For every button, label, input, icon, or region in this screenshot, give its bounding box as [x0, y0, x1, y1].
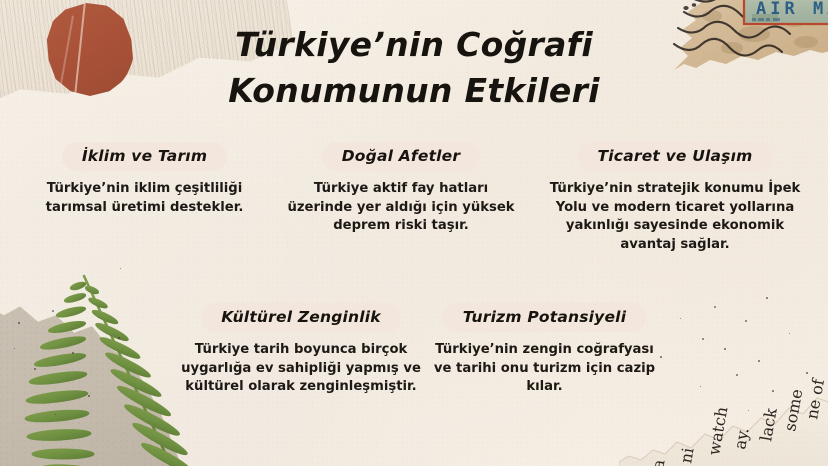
card-body-text: Türkiye’nin iklim çeşitliliği tarımsal ü…: [32, 180, 257, 217]
page-title-line-1: Türkiye’nin Coğrafi: [235, 25, 593, 64]
card-heading-pill: Doğal Afetler: [322, 142, 481, 171]
card-body-text: Türkiye tarih boyunca birçok uygarlığa e…: [176, 341, 426, 397]
card-heading-pill: İklim ve Tarım: [62, 142, 227, 171]
card-dogal-afetler: Doğal Afetler Türkiye aktif fay hatları …: [286, 142, 516, 236]
card-turizm-potansiyeli: Turizm Potansiyeli Türkiye’nin zengin co…: [432, 303, 657, 397]
slide-content: Türkiye’nin Coğrafi Konumunun Etkileri İ…: [0, 0, 828, 466]
card-heading-pill: Turizm Potansiyeli: [443, 303, 646, 332]
slide-canvas: AIR MA ne of y some: [0, 0, 828, 466]
card-body-text: Türkiye’nin zengin coğrafyası ve tarihi …: [432, 341, 657, 397]
card-iklim-ve-tarim: İklim ve Tarım Türkiye’nin iklim çeşitli…: [32, 142, 257, 217]
card-kulturel-zenginlik: Kültürel Zenginlik Türkiye tarih boyunca…: [176, 303, 426, 397]
page-title: Türkiye’nin Coğrafi Konumunun Etkileri: [0, 22, 828, 113]
card-ticaret-ve-ulasim: Ticaret ve Ulaşım Türkiye’nin stratejik …: [540, 142, 810, 255]
card-body-text: Türkiye’nin stratejik konumu İpek Yolu v…: [540, 180, 810, 255]
card-body-text: Türkiye aktif fay hatları üzerinde yer a…: [286, 180, 516, 236]
card-heading-pill: Kültürel Zenginlik: [201, 303, 401, 332]
page-title-line-2: Konumunun Etkileri: [0, 68, 828, 114]
card-heading-pill: Ticaret ve Ulaşım: [578, 142, 773, 171]
